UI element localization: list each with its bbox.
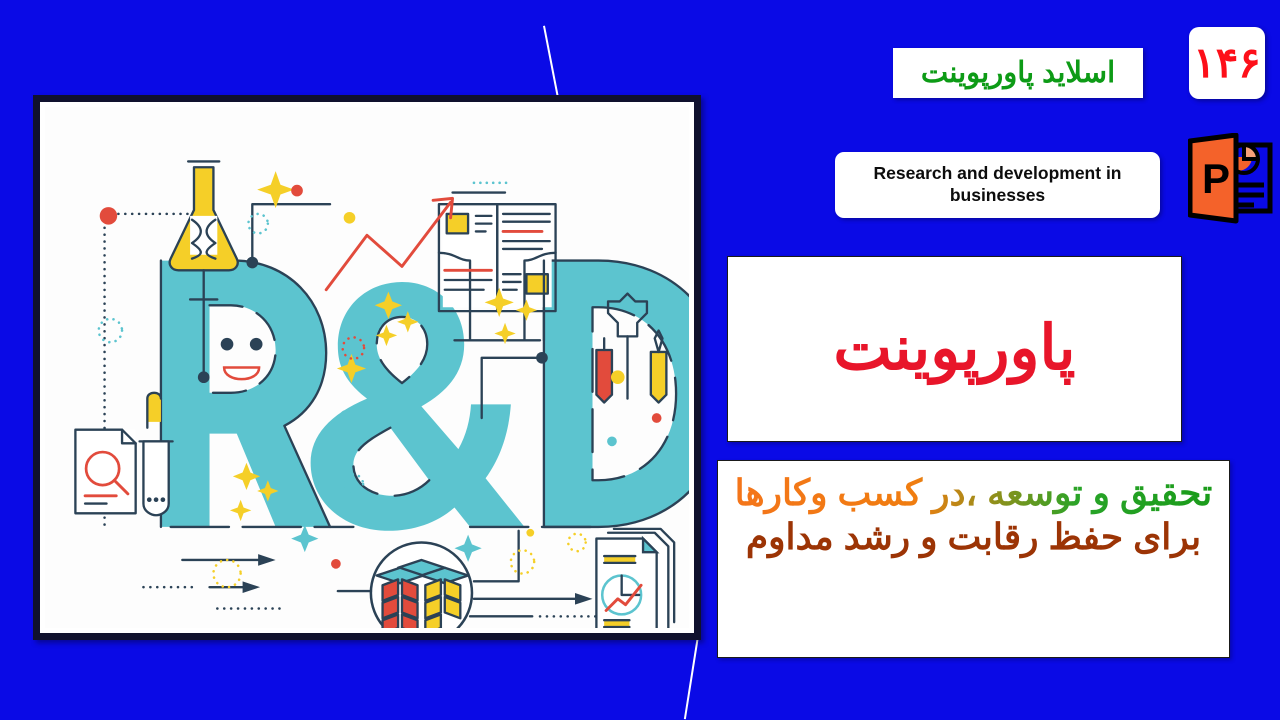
subtitle-card: تحقیق و توسعه ،در کسب وکارها برای حفظ رق… bbox=[717, 460, 1230, 658]
powerpoint-logo-icon: P bbox=[1188, 133, 1274, 231]
decorative-diagonal-line-top bbox=[543, 26, 560, 103]
slide-number-badge: ۱۴۶ bbox=[1189, 27, 1265, 99]
svg-text:P: P bbox=[1202, 155, 1230, 202]
document-with-magnifier-icon bbox=[75, 430, 135, 514]
illustration-frame: .tl { fill:#5cc4cf; } .nv { fill:none; s… bbox=[33, 95, 701, 640]
letter-ampersand bbox=[311, 282, 525, 531]
slide-label-text: اسلاید پاورپوینت bbox=[921, 59, 1115, 88]
flow-arrows bbox=[143, 554, 285, 608]
main-title-card: پاورپوینت bbox=[727, 256, 1182, 442]
decorative-diagonal-line-bottom bbox=[684, 636, 699, 719]
growth-arrow-icon bbox=[326, 198, 452, 289]
illustration-canvas: .tl { fill:#5cc4cf; } .nv { fill:none; s… bbox=[45, 107, 689, 628]
letter-D bbox=[544, 261, 689, 527]
r-and-d-illustration-svg: .tl { fill:#5cc4cf; } .nv { fill:none; s… bbox=[45, 107, 689, 628]
slide-label-card: اسلاید پاورپوینت bbox=[893, 48, 1143, 98]
subtitle-line-2: برای حفظ رقابت و رشد مداوم bbox=[732, 515, 1215, 559]
english-title-card: Research and development in businesses bbox=[835, 152, 1160, 218]
main-title-text: پاورپوینت bbox=[833, 318, 1075, 380]
slide-number-text: ۱۴۶ bbox=[1193, 42, 1261, 84]
subtitle-line-1: تحقیق و توسعه ،در کسب وکارها bbox=[732, 471, 1215, 515]
english-title-text: Research and development in businesses bbox=[849, 163, 1146, 207]
flask-icon bbox=[170, 161, 238, 270]
data-cube-icon bbox=[371, 542, 472, 628]
report-chart-documents-icon bbox=[596, 529, 674, 628]
